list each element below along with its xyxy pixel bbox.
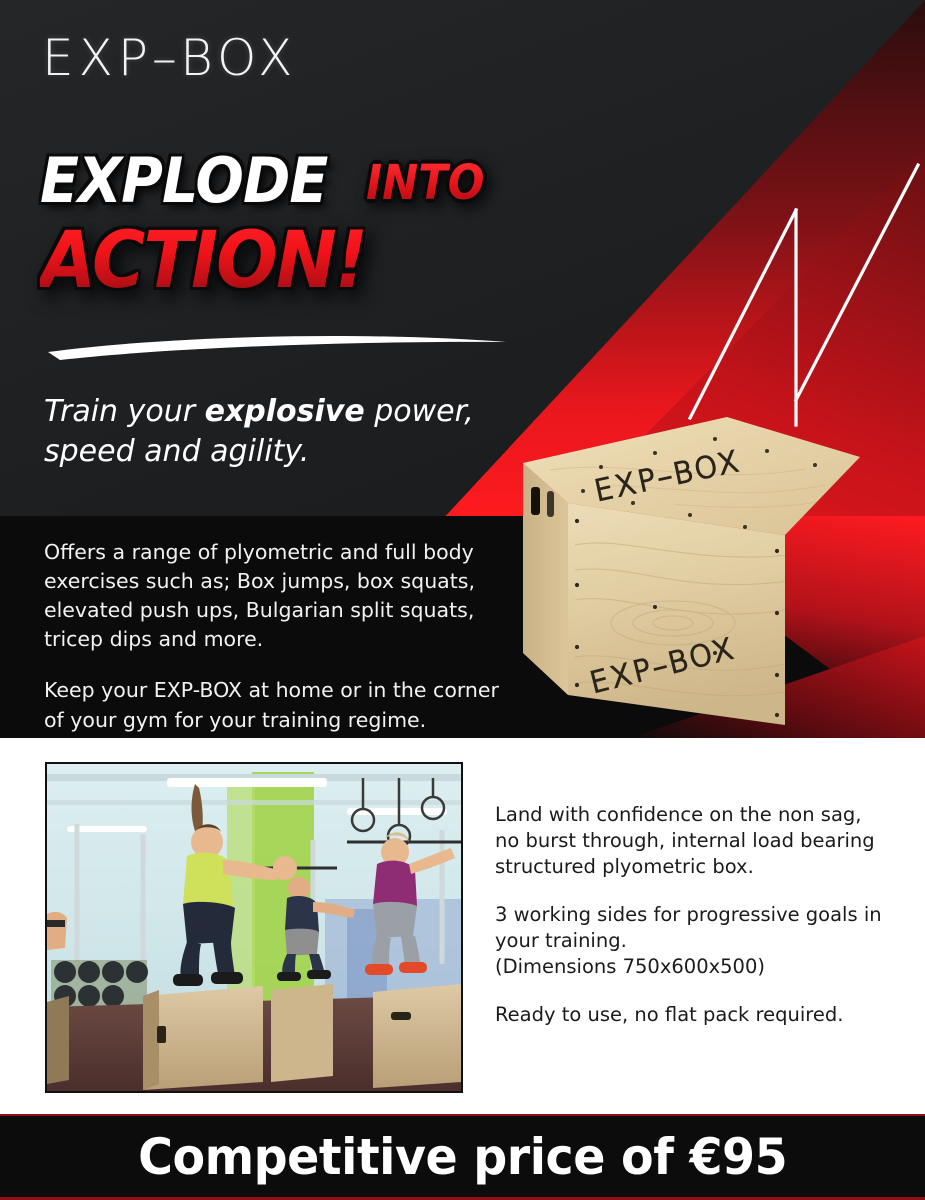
body-paragraph-1: Offers a range of plyometric and full bo…	[44, 538, 514, 654]
product-box-image: EXP–BOX EXP–BOX	[505, 395, 905, 747]
headline-line-1: EXPLODE INTO	[40, 152, 498, 211]
swoosh-divider-icon	[46, 330, 508, 362]
feature-paragraph-1: Land with confidence on the non sag, no …	[495, 802, 885, 880]
tagline-emphasis: explosive	[205, 394, 365, 429]
body-paragraph-2: Keep your EXP-BOX at home or in the corn…	[44, 676, 514, 734]
headline-explode: EXPLODE	[40, 152, 327, 211]
tagline-part-2: power,	[365, 394, 474, 429]
headline-action: ACTION!	[40, 222, 366, 300]
gym-photo	[45, 762, 463, 1093]
body-copy: Offers a range of plyometric and full bo…	[44, 538, 514, 735]
tagline-line-1: Train your explosive power,	[44, 392, 504, 432]
price-banner: Competitive price of €95	[0, 1114, 925, 1200]
feature-copy: Land with confidence on the non sag, no …	[495, 802, 885, 1027]
price-banner-top-rule	[0, 1114, 925, 1116]
hero-tagline: Train your explosive power, speed and ag…	[44, 392, 504, 472]
headline-into: INTO	[366, 159, 484, 207]
feature-paragraph-2: 3 working sides for progressive goals in…	[495, 902, 885, 980]
price-text: Competitive price of €95	[138, 1128, 787, 1186]
tagline-part-1: Train your	[44, 394, 205, 429]
poster: EXP–BOX EXP–BOX EXP–BOX EXPLODE INTO ACT…	[0, 0, 925, 1200]
feature-paragraph-3: Ready to use, no flat pack required.	[495, 1002, 885, 1028]
tagline-line-2: speed and agility.	[44, 432, 504, 472]
brand-logo: EXP–BOX	[42, 33, 297, 83]
arrow-line-graphic	[560, 160, 925, 430]
